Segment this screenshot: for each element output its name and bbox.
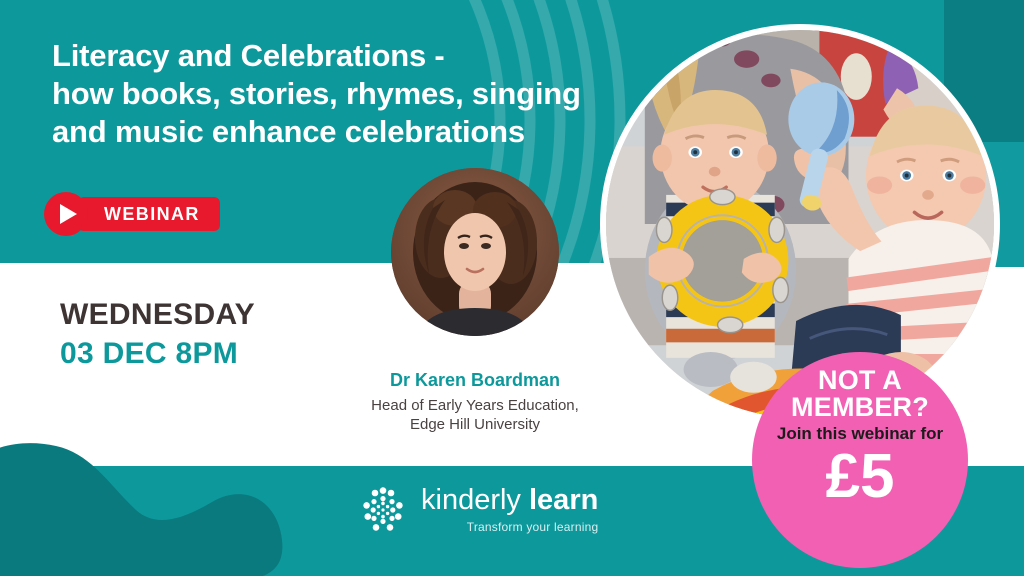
price-badge-line-1: NOT A	[818, 368, 902, 394]
price-badge-line-3: Join this webinar for	[777, 424, 943, 444]
play-icon[interactable]	[44, 192, 88, 236]
play-triangle-icon	[60, 204, 77, 224]
headline-line-3: and music enhance celebrations	[52, 113, 612, 151]
page-title: Literacy and Celebrations - how books, s…	[52, 37, 612, 151]
headline-line-2: how books, stories, rhymes, singing	[52, 75, 612, 113]
logo-tagline: Transform your learning	[421, 520, 598, 534]
price-amount: £5	[826, 446, 895, 508]
webinar-label: WEBINAR	[104, 204, 200, 225]
speaker-name: Dr Karen Boardman	[310, 370, 640, 391]
hero-photo	[600, 24, 1000, 424]
logo-wordmark: kinderly learn Transform your learning	[421, 486, 598, 534]
event-date-time: 03 DEC 8PM	[60, 335, 255, 373]
price-badge[interactable]: NOT A MEMBER? Join this webinar for £5	[752, 352, 968, 568]
dot-burst-logo-icon	[357, 484, 409, 536]
logo-name-light: kinderly	[421, 484, 521, 516]
headline-line-1: Literacy and Celebrations -	[52, 37, 612, 75]
avatar	[391, 168, 559, 336]
webinar-promo-banner: Literacy and Celebrations - how books, s…	[0, 0, 1024, 576]
speaker-role: Head of Early Years Education, Edge Hill…	[310, 396, 640, 434]
price-badge-line-2: MEMBER?	[791, 394, 929, 421]
speaker-role-line-1: Head of Early Years Education,	[371, 397, 579, 414]
event-date: WEDNESDAY 03 DEC 8PM	[60, 298, 255, 372]
speaker-role-line-2: Edge Hill University	[410, 416, 540, 433]
brand-logo[interactable]: kinderly learn Transform your learning	[357, 484, 598, 536]
logo-name-bold: learn	[529, 484, 598, 516]
webinar-pill[interactable]: WEBINAR	[78, 197, 220, 231]
logo-name: kinderly learn	[421, 486, 598, 515]
event-day: WEDNESDAY	[60, 298, 255, 333]
webinar-badge[interactable]: WEBINAR	[44, 192, 220, 236]
